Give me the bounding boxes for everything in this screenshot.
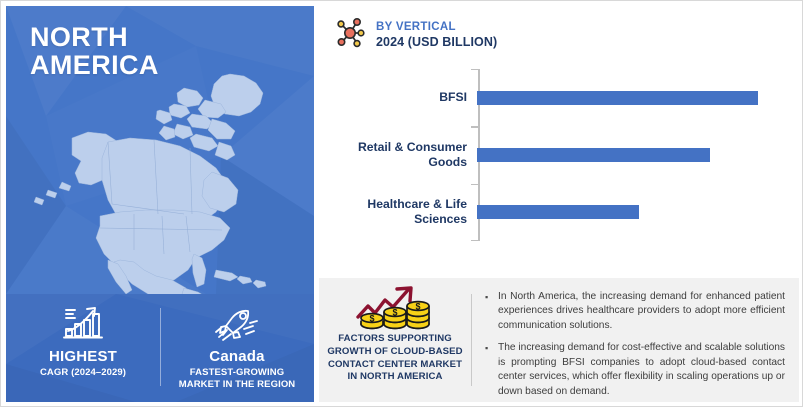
stat-card-fastest-growing: Canada FASTEST-GROWING MARKET IN THE REG… xyxy=(160,294,314,391)
svg-text:$: $ xyxy=(392,308,397,318)
bullet-text: In North America, the increasing demand … xyxy=(498,290,785,333)
bar-bfsi xyxy=(477,91,758,105)
bullet-list: ▪ In North America, the increasing deman… xyxy=(485,290,785,407)
stat-value-highest: HIGHEST xyxy=(49,348,117,365)
category-label-2: Healthcare & Life Sciences xyxy=(339,197,475,227)
bullets-divider xyxy=(471,294,472,386)
infographic-root: NORTH AMERICA xyxy=(0,0,803,407)
bottom-insights-panel: $ $ $ FACTORS SUPPORTING GROWTH OF CLOUD… xyxy=(319,278,799,402)
chart-subtitle-label: 2024 (USD BILLION) xyxy=(376,35,497,50)
north-america-map-icon xyxy=(34,64,292,294)
bar-row: Retail & Consumer Goods xyxy=(339,126,785,183)
list-item: ▪ The increasing demand for cost-effecti… xyxy=(485,341,785,399)
map-block: NORTH AMERICA xyxy=(6,6,314,294)
bar-track xyxy=(475,126,785,183)
category-label-1: Retail & Consumer Goods xyxy=(339,140,475,170)
bar-rows: BFSI Retail & Consumer Goods Healthcare … xyxy=(339,69,785,241)
factors-title: FACTORS SUPPORTING GROWTH OF CLOUD-BASED… xyxy=(325,333,465,384)
bullet-marker-icon: ▪ xyxy=(485,290,491,333)
rocket-icon xyxy=(214,303,260,343)
stats-divider xyxy=(160,308,161,386)
bar-chart-growth-icon xyxy=(60,303,106,343)
chart-panel: BY VERTICAL 2024 (USD BILLION) BFSI Reta… xyxy=(319,6,799,278)
bullet-text: The increasing demand for cost-effective… xyxy=(498,341,785,399)
stat-value-canada: Canada xyxy=(209,348,264,365)
bar-row: BFSI xyxy=(339,69,785,126)
bar-chart-plot: BFSI Retail & Consumer Goods Healthcare … xyxy=(339,69,785,254)
factors-block: $ $ $ FACTORS SUPPORTING GROWTH OF CLOUD… xyxy=(325,284,465,396)
network-molecule-icon xyxy=(333,16,367,55)
list-item: ▪ In North America, the increasing deman… xyxy=(485,290,785,333)
chart-kicker-label: BY VERTICAL xyxy=(376,21,497,35)
bar-retail-consumer-goods xyxy=(477,148,710,162)
left-region-panel: NORTH AMERICA xyxy=(6,6,314,402)
bar-healthcare-life-sciences xyxy=(477,205,639,219)
svg-text:$: $ xyxy=(415,302,420,312)
bar-row: Healthcare & Life Sciences xyxy=(339,184,785,241)
chart-header: BY VERTICAL 2024 (USD BILLION) xyxy=(333,16,497,55)
bar-track xyxy=(475,184,785,241)
stat-caption-fastest-growing: FASTEST-GROWING MARKET IN THE REGION xyxy=(179,367,296,391)
bullet-marker-icon: ▪ xyxy=(485,341,491,399)
bar-track xyxy=(475,69,785,126)
stats-block: HIGHEST CAGR (2024–2029) xyxy=(6,294,314,402)
svg-text:$: $ xyxy=(369,314,374,324)
category-label-0: BFSI xyxy=(339,90,475,105)
coins-growth-arrow-icon: $ $ $ xyxy=(352,284,438,330)
stat-card-highest-cagr: HIGHEST CAGR (2024–2029) xyxy=(6,294,160,379)
stat-caption-cagr: CAGR (2024–2029) xyxy=(40,367,126,379)
